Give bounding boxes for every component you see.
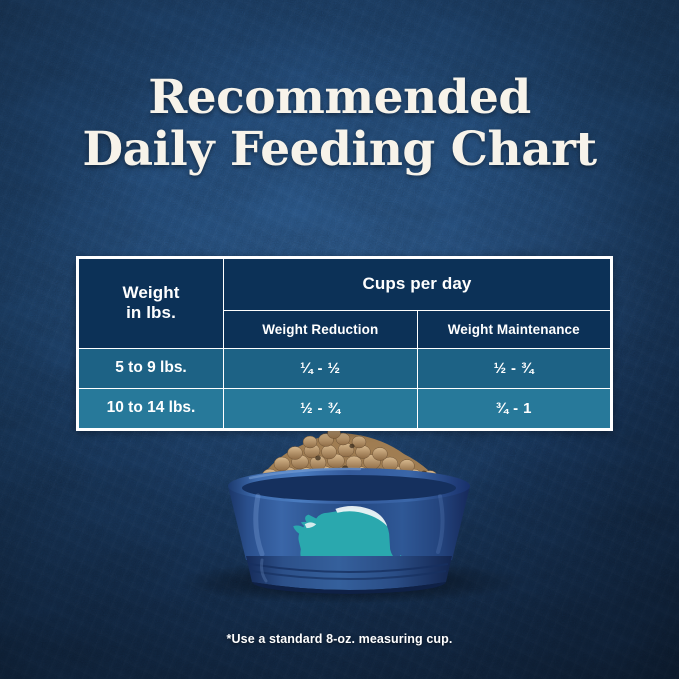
header-weight-line2: in lbs.: [126, 303, 176, 322]
page-title: Recommended Daily Feeding Chart: [0, 72, 679, 175]
row-1-weight: 5 to 9 lbs.: [79, 348, 224, 388]
dog-food-bowl-illustration: [0, 430, 679, 615]
row-2-weight: 10 to 14 lbs.: [79, 388, 224, 428]
footnote-text: *Use a standard 8-oz. measuring cup.: [0, 632, 679, 646]
table-row: 10 to 14 lbs. ½ - ¾ ¾ - 1: [79, 388, 611, 428]
header-weight-line1: Weight: [123, 283, 180, 302]
bowl-rim-inner: [242, 475, 456, 501]
row-1-weight-maintenance: ½ - ¾: [417, 348, 611, 388]
header-weight-maintenance: Weight Maintenance: [417, 310, 611, 348]
feeding-chart-table: Weight in lbs. Cups per day Weight Reduc…: [76, 256, 613, 431]
row-2-weight-reduction: ½ - ¾: [224, 388, 418, 428]
table-header-row-primary: Weight in lbs. Cups per day: [79, 259, 611, 311]
header-weight-reduction: Weight Reduction: [224, 310, 418, 348]
title-line-2: Daily Feeding Chart: [0, 124, 679, 176]
header-weight-in-lbs: Weight in lbs.: [79, 259, 224, 349]
feeding-chart-page: Recommended Daily Feeding Chart Weight i…: [0, 0, 679, 679]
row-2-weight-maintenance: ¾ - 1: [417, 388, 611, 428]
table-row: 5 to 9 lbs. ¼ - ½ ½ - ¾: [79, 348, 611, 388]
title-line-1: Recommended: [0, 72, 679, 124]
header-cups-per-day: Cups per day: [224, 259, 611, 311]
row-1-weight-reduction: ¼ - ½: [224, 348, 418, 388]
